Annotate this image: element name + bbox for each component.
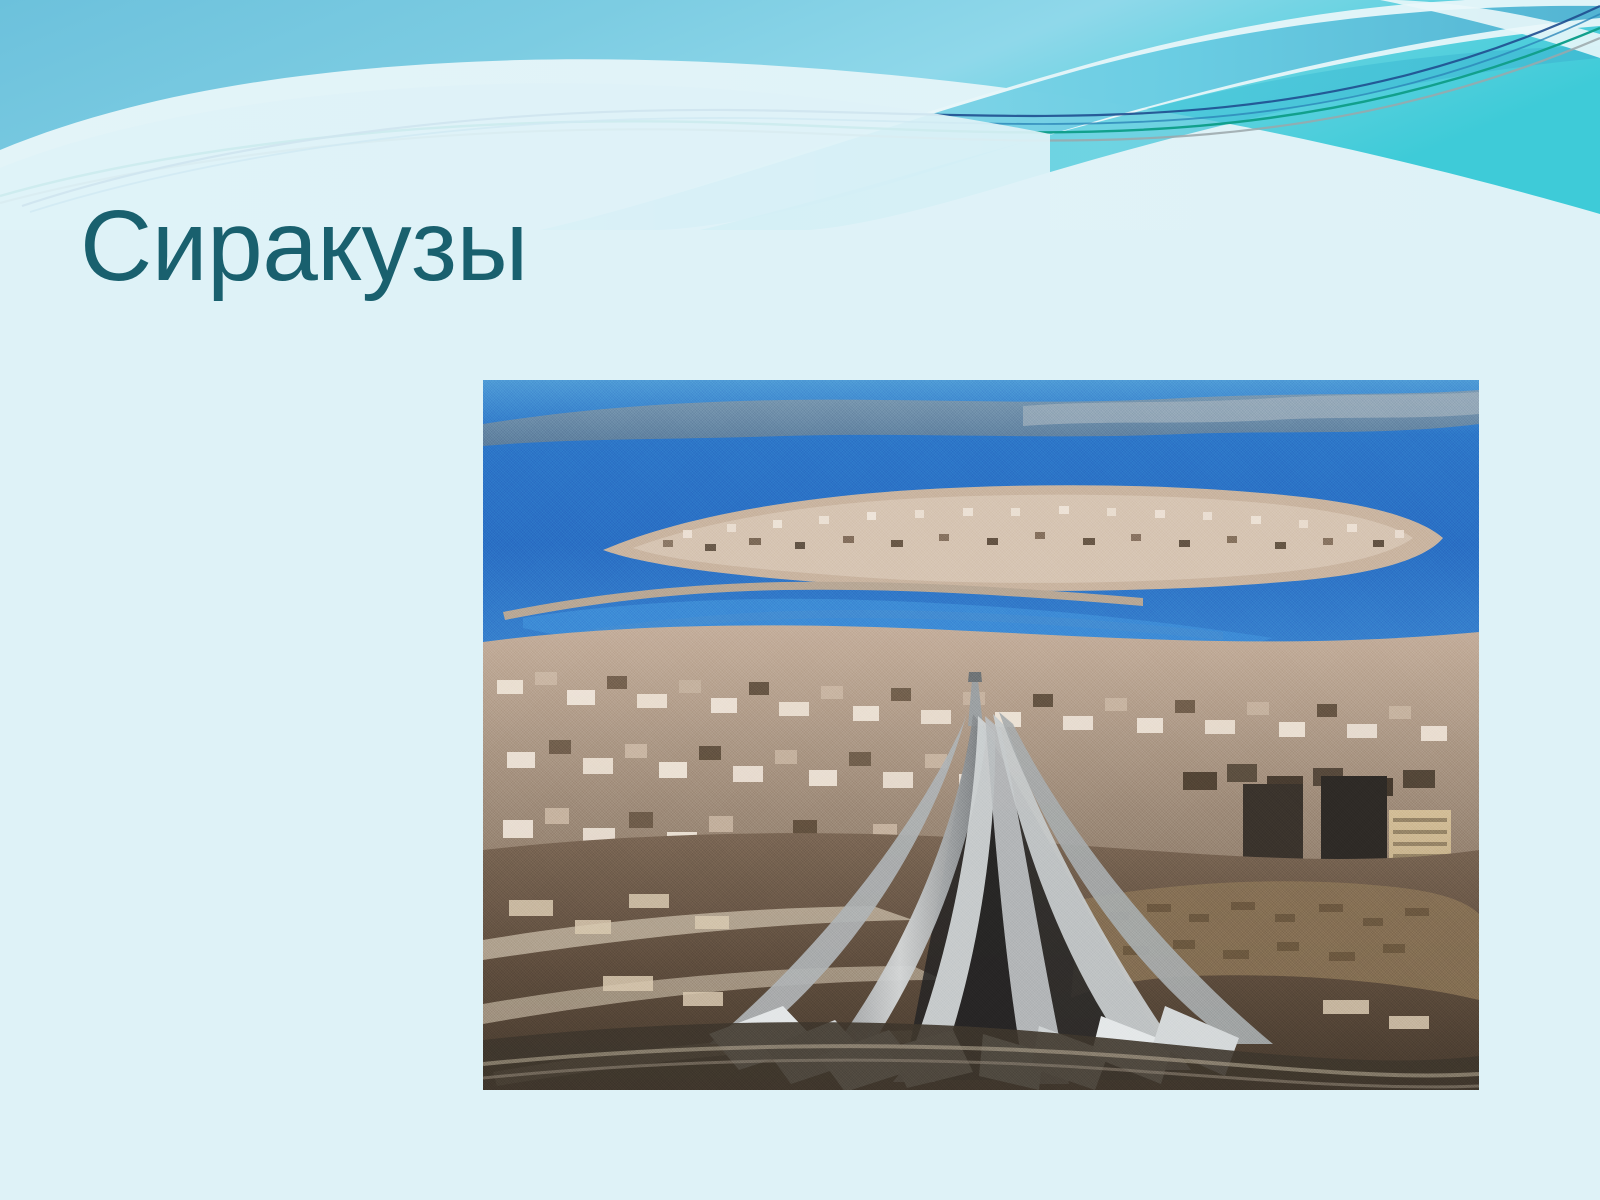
banner-gray-accent-line <box>0 38 1600 203</box>
aerial-cityscape-photo <box>483 380 1479 1090</box>
page-title: Сиракузы <box>80 196 1480 296</box>
banner-steel-accent-line <box>30 14 1600 212</box>
banner-top-right-sliver <box>1380 0 1600 58</box>
banner-teal-accent-line <box>0 28 1600 196</box>
banner-navy-accent-line <box>22 6 1600 206</box>
presentation-slide: Сиракузы <box>0 0 1600 1200</box>
